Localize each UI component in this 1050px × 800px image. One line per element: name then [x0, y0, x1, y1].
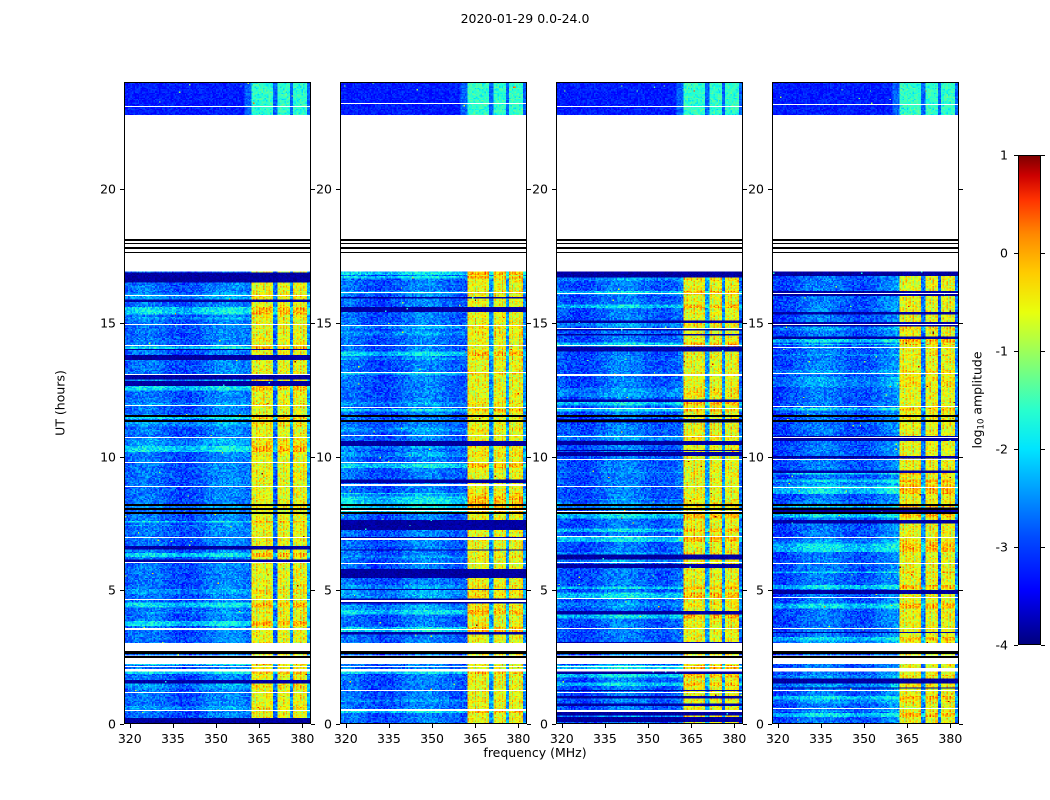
flagged-scan-bar	[773, 239, 958, 241]
y-tick	[552, 457, 556, 458]
x-tick-label: 335	[809, 731, 833, 746]
y-tick-label: 20	[308, 182, 332, 197]
y-tick-label: 20	[92, 182, 116, 197]
scan-separator	[341, 538, 526, 539]
y-tick-label: 10	[740, 449, 764, 464]
colorbar-tick	[1041, 155, 1045, 156]
scan-separator	[773, 690, 958, 691]
y-tick	[552, 724, 556, 725]
x-tick-label: 335	[593, 731, 617, 746]
scan-separator	[341, 266, 526, 267]
scan-separator	[773, 459, 958, 460]
x-tick-label: 380	[722, 731, 746, 746]
scan-separator	[125, 537, 310, 538]
flagged-scan-bar	[773, 243, 958, 245]
flagged-scan-bar	[125, 247, 310, 249]
x-tick-label: 380	[506, 731, 530, 746]
x-tick-label: 380	[938, 731, 962, 746]
spectrogram-panel-yx[interactable]: YX, V0*V9=EA10*EA07	[772, 82, 959, 724]
scan-separator	[557, 459, 742, 460]
colorbar: -4-3-2-101	[1018, 155, 1041, 645]
x-tick-label: 320	[334, 731, 358, 746]
flagged-scan-bar	[773, 247, 958, 249]
spectrogram-figure: 2020-01-29 0.0-24.0 XX, V0*V9=EA10*EA07Y…	[0, 0, 1050, 800]
flagged-scan-bar	[557, 243, 742, 245]
flagged-scan-bar	[341, 252, 526, 253]
scan-separator	[557, 184, 742, 185]
x-tick-label: 350	[204, 731, 228, 746]
x-tick	[389, 724, 390, 728]
flagged-scan-bar	[773, 651, 958, 654]
x-tick	[864, 724, 865, 728]
y-tick-label: 0	[92, 717, 116, 732]
flagged-scan-bar	[557, 247, 742, 249]
colorbar-gradient	[1018, 155, 1041, 645]
colorbar-tick	[1014, 351, 1018, 352]
x-tick	[432, 724, 433, 728]
flagged-scan-bar	[125, 656, 310, 658]
y-tick	[552, 189, 556, 190]
scan-separator	[125, 486, 310, 487]
flagged-scan-bar	[557, 508, 742, 510]
scan-separator	[557, 408, 742, 409]
scan-separator	[773, 123, 958, 124]
y-tick-label: 10	[308, 449, 332, 464]
spectrogram-panel-xx[interactable]: XX, V0*V9=EA10*EA07	[124, 82, 311, 724]
scan-separator	[125, 628, 310, 629]
flagged-scan-bar	[125, 252, 310, 253]
x-tick	[259, 724, 260, 728]
x-tick-label: 365	[463, 731, 487, 746]
x-tick-label: 350	[420, 731, 444, 746]
y-tick-label: 5	[740, 583, 764, 598]
scan-separator	[773, 487, 958, 488]
scan-separator	[773, 597, 958, 598]
colorbar-tick	[1014, 449, 1018, 450]
y-tick-label: 0	[740, 717, 764, 732]
flagged-scan-bar	[773, 504, 958, 506]
colorbar-tick-label: -3	[976, 540, 1008, 555]
scan-separator	[341, 666, 526, 667]
colorbar-tick	[1014, 155, 1018, 156]
scan-separator	[557, 328, 742, 329]
x-tick	[907, 724, 908, 728]
flagged-scan-bar	[125, 415, 310, 417]
y-tick	[959, 323, 963, 324]
scan-separator	[341, 215, 526, 216]
flagged-scan-bar	[557, 512, 742, 514]
flagged-scan-bar	[341, 247, 526, 249]
flagged-scan-bar	[125, 239, 310, 241]
y-tick	[959, 590, 963, 591]
flagged-scan-bar	[773, 420, 958, 422]
x-tick-label: 320	[550, 731, 574, 746]
scan-separator	[341, 292, 526, 293]
flagged-scan-bar	[773, 415, 958, 417]
flagged-scan-bar	[125, 420, 310, 422]
scan-separator	[125, 462, 310, 463]
x-tick-label: 335	[377, 731, 401, 746]
scan-separator	[557, 536, 742, 537]
flagged-scan-bar	[341, 415, 526, 417]
y-tick	[336, 189, 340, 190]
scan-separator	[557, 692, 742, 693]
flagged-scan-bar	[557, 504, 742, 506]
x-tick	[691, 724, 692, 728]
figure-title: 2020-01-29 0.0-24.0	[0, 11, 1050, 26]
scan-separator	[125, 692, 310, 693]
y-tick	[120, 323, 124, 324]
y-tick	[336, 724, 340, 725]
y-tick-label: 0	[308, 717, 332, 732]
scan-separator	[773, 347, 958, 348]
y-tick-label: 20	[524, 182, 548, 197]
scan-separator	[773, 104, 958, 105]
x-tick	[562, 724, 563, 728]
scan-separator	[125, 562, 310, 563]
scan-separator	[125, 345, 310, 346]
colorbar-tick	[1014, 645, 1018, 646]
scan-separator	[557, 598, 742, 599]
scan-separator	[341, 510, 526, 511]
scan-separator	[557, 628, 742, 629]
y-tick-label: 5	[308, 583, 332, 598]
y-tick-label: 15	[92, 315, 116, 330]
scan-separator	[557, 345, 742, 346]
colorbar-tick	[1014, 547, 1018, 548]
flagged-scan-bar	[125, 651, 310, 654]
scan-separator	[773, 185, 958, 186]
scan-separator	[773, 537, 958, 538]
y-tick	[959, 724, 963, 725]
flagged-scan-bar	[557, 656, 742, 658]
scan-separator	[341, 563, 526, 564]
scan-separator	[773, 212, 958, 213]
spectrogram-image-yy	[341, 83, 526, 723]
flagged-scan-bar	[341, 239, 526, 241]
x-tick	[605, 724, 606, 728]
scan-separator	[341, 709, 526, 710]
scan-separator	[341, 462, 526, 463]
y-axis-label: UT (hours)	[53, 370, 68, 436]
x-tick-label: 365	[679, 731, 703, 746]
scan-separator	[557, 293, 742, 294]
flagged-scan-bar	[557, 420, 742, 422]
flagged-scan-bar	[125, 508, 310, 510]
spectrogram-panel-xy[interactable]: XY, V0*V9=EA10*EA07	[556, 82, 743, 724]
scan-separator	[773, 708, 958, 709]
scan-separator	[341, 435, 526, 436]
scan-separator	[557, 106, 742, 107]
scan-separator	[125, 106, 310, 107]
y-tick	[552, 323, 556, 324]
y-tick	[120, 457, 124, 458]
x-tick	[950, 724, 951, 728]
x-tick	[130, 724, 131, 728]
x-tick	[778, 724, 779, 728]
y-tick	[120, 189, 124, 190]
y-tick	[959, 189, 963, 190]
y-tick-label: 15	[308, 315, 332, 330]
scan-separator	[341, 484, 526, 485]
scan-separator	[773, 373, 958, 374]
x-tick	[302, 724, 303, 728]
x-tick	[734, 724, 735, 728]
spectrogram-image-xx	[125, 83, 310, 723]
scan-separator	[557, 374, 742, 375]
y-tick-label: 10	[92, 449, 116, 464]
y-tick-label: 20	[740, 182, 764, 197]
colorbar-tick	[1041, 351, 1045, 352]
scan-separator	[773, 563, 958, 564]
colorbar-tick-label: -4	[976, 638, 1008, 653]
flagged-scan-bar	[557, 651, 742, 654]
flagged-scan-bar	[341, 651, 526, 654]
scan-separator	[125, 212, 310, 213]
scan-separator	[773, 293, 958, 294]
y-tick-label: 5	[92, 583, 116, 598]
scan-separator	[341, 325, 526, 326]
scan-separator	[557, 486, 742, 487]
scan-separator	[557, 436, 742, 437]
y-tick	[336, 457, 340, 458]
flagged-scan-bar	[341, 504, 526, 506]
x-tick-label: 365	[247, 731, 271, 746]
flagged-scan-bar	[557, 239, 742, 241]
spectrogram-image-yx	[773, 83, 958, 723]
colorbar-tick	[1041, 449, 1045, 450]
y-tick	[768, 189, 772, 190]
scan-separator	[125, 270, 310, 271]
x-tick-label: 335	[161, 731, 185, 746]
y-tick	[768, 590, 772, 591]
x-tick	[821, 724, 822, 728]
scan-separator	[125, 374, 310, 375]
x-tick-label: 365	[895, 731, 919, 746]
scan-separator	[557, 236, 742, 237]
flagged-scan-bar	[773, 508, 958, 510]
y-tick	[768, 457, 772, 458]
flagged-scan-bar	[341, 420, 526, 422]
scan-separator	[557, 666, 742, 667]
scan-separator	[773, 628, 958, 629]
x-tick-label: 380	[290, 731, 314, 746]
y-tick	[959, 457, 963, 458]
y-tick	[768, 323, 772, 324]
scan-separator	[557, 268, 742, 269]
x-tick	[346, 724, 347, 728]
scan-separator	[125, 599, 310, 600]
scan-separator	[557, 710, 742, 711]
colorbar-tick	[1014, 253, 1018, 254]
y-tick-label: 5	[524, 583, 548, 598]
scan-separator	[773, 324, 958, 325]
flagged-scan-bar	[341, 508, 526, 510]
x-axis-label: frequency (MHz)	[483, 745, 586, 760]
x-tick	[216, 724, 217, 728]
colorbar-tick	[1041, 547, 1045, 548]
flagged-scan-bar	[125, 512, 310, 514]
scan-separator	[341, 183, 526, 184]
scan-separator	[341, 236, 526, 237]
scan-separator	[341, 372, 526, 373]
scan-separator	[557, 562, 742, 563]
flagged-scan-bar	[125, 243, 310, 245]
scan-separator	[773, 406, 958, 407]
x-tick-label: 320	[118, 731, 142, 746]
scan-separator	[125, 185, 310, 186]
flagged-scan-bar	[125, 504, 310, 506]
colorbar-tick	[1041, 645, 1045, 646]
colorbar-tick-label: 1	[976, 148, 1008, 163]
scan-separator	[341, 103, 526, 104]
scan-separator	[125, 295, 310, 296]
scan-separator	[125, 324, 310, 325]
flagged-scan-bar	[341, 656, 526, 658]
y-tick-label: 10	[524, 449, 548, 464]
flagged-scan-bar	[773, 512, 958, 514]
colorbar-tick-label: 0	[976, 246, 1008, 261]
y-tick-label: 15	[524, 315, 548, 330]
y-tick-label: 0	[524, 717, 548, 732]
scan-separator	[557, 122, 742, 123]
scan-separator	[773, 668, 958, 669]
scan-separator	[341, 629, 526, 630]
x-tick	[518, 724, 519, 728]
flagged-scan-bar	[557, 415, 742, 417]
scan-separator	[557, 213, 742, 214]
x-tick-label: 350	[852, 731, 876, 746]
y-tick	[336, 590, 340, 591]
scan-separator	[341, 690, 526, 691]
y-tick	[120, 590, 124, 591]
scan-separator	[125, 710, 310, 711]
scan-separator	[341, 600, 526, 601]
scan-separator	[341, 125, 526, 126]
spectrogram-panel-yy[interactable]: YY, V0*V9=EA10*EA07	[340, 82, 527, 724]
y-tick	[120, 724, 124, 725]
flagged-scan-bar	[773, 656, 958, 658]
x-tick	[475, 724, 476, 728]
x-tick-label: 350	[636, 731, 660, 746]
y-tick	[552, 590, 556, 591]
scan-separator	[125, 125, 310, 126]
scan-separator	[773, 267, 958, 268]
y-tick	[336, 323, 340, 324]
scan-separator	[125, 437, 310, 438]
flagged-scan-bar	[341, 512, 526, 514]
scan-separator	[341, 345, 526, 346]
flagged-scan-bar	[341, 243, 526, 245]
scan-separator	[773, 236, 958, 237]
flagged-scan-bar	[557, 252, 742, 253]
y-tick	[768, 724, 772, 725]
x-tick	[173, 724, 174, 728]
scan-separator	[125, 405, 310, 406]
colorbar-tick	[1041, 253, 1045, 254]
x-tick-label: 320	[766, 731, 790, 746]
colorbar-label: log10 amplitude	[969, 351, 986, 448]
flagged-scan-bar	[773, 252, 958, 253]
x-tick	[648, 724, 649, 728]
scan-separator	[341, 407, 526, 408]
scan-separator	[125, 666, 310, 667]
scan-separator	[773, 437, 958, 438]
y-tick-label: 15	[740, 315, 764, 330]
